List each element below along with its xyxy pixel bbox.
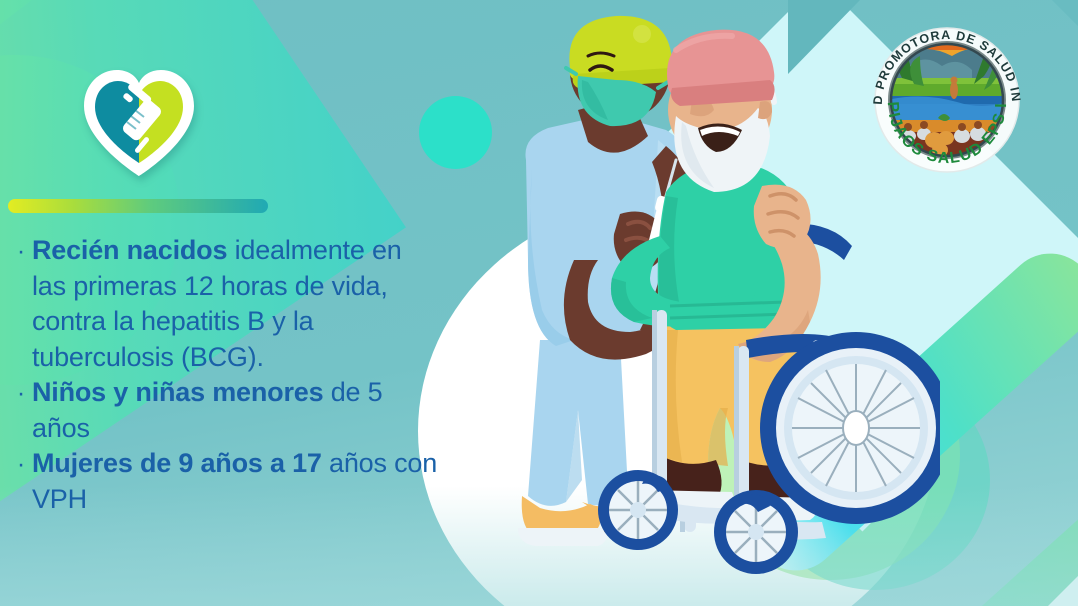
brand-gradient-bar [8, 199, 268, 213]
bullet-marker: · [10, 446, 32, 482]
bullet-lead: Mujeres de 9 años a 17 [32, 448, 322, 478]
bullet-copy: Niños y niñas menores de 5 años [32, 375, 440, 446]
bullet-marker: · [10, 375, 32, 411]
list-item: · Recién nacidos idealmente en las prime… [10, 233, 440, 375]
list-item: · Niños y niñas menores de 5 años [10, 375, 440, 446]
bullet-marker: · [10, 233, 32, 269]
list-item: · Mujeres de 9 años a 17 años con VPH [10, 446, 440, 517]
heart-syringe-icon [78, 62, 200, 180]
bullet-lead: Niños y niñas menores [32, 377, 323, 407]
top-right-corner-notch [1052, 0, 1078, 26]
bullet-list: · Recién nacidos idealmente en las prime… [10, 233, 440, 517]
bullet-copy: Recién nacidos idealmente en las primera… [32, 233, 440, 375]
bullet-lead: Recién nacidos [32, 235, 227, 265]
bottom-right-corner-notch [1048, 576, 1078, 606]
bullet-copy: Mujeres de 9 años a 17 años con VPH [32, 446, 440, 517]
pijaos-salud-eps-seal: ENTIDAD PROMOTORA DE SALUD INDÍGENA PIJA… [862, 12, 1032, 182]
vaccination-poster: · Recién nacidos idealmente en las prime… [0, 0, 1078, 606]
